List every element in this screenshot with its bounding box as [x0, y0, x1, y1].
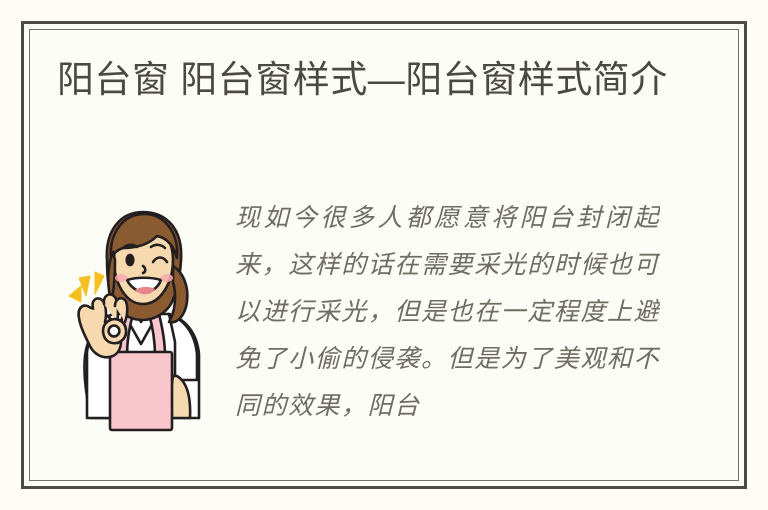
article-content: 阳台窗 阳台窗样式—阳台窗样式简介: [29, 29, 739, 481]
article-paragraph: 现如今很多人都愿意将阳台封闭起来，这样的话在需要采光的时候也可以进行采光，但是也…: [217, 194, 660, 429]
article-page: 阳台窗 阳台窗样式—阳台窗样式简介: [0, 0, 768, 510]
page-title: 阳台窗 阳台窗样式—阳台窗样式简介: [57, 55, 677, 105]
article-body: 现如今很多人都愿意将阳台封闭起来，这样的话在需要采光的时候也可以进行采光，但是也…: [57, 194, 711, 444]
winking-woman-ok-gesture-icon: [57, 204, 217, 436]
